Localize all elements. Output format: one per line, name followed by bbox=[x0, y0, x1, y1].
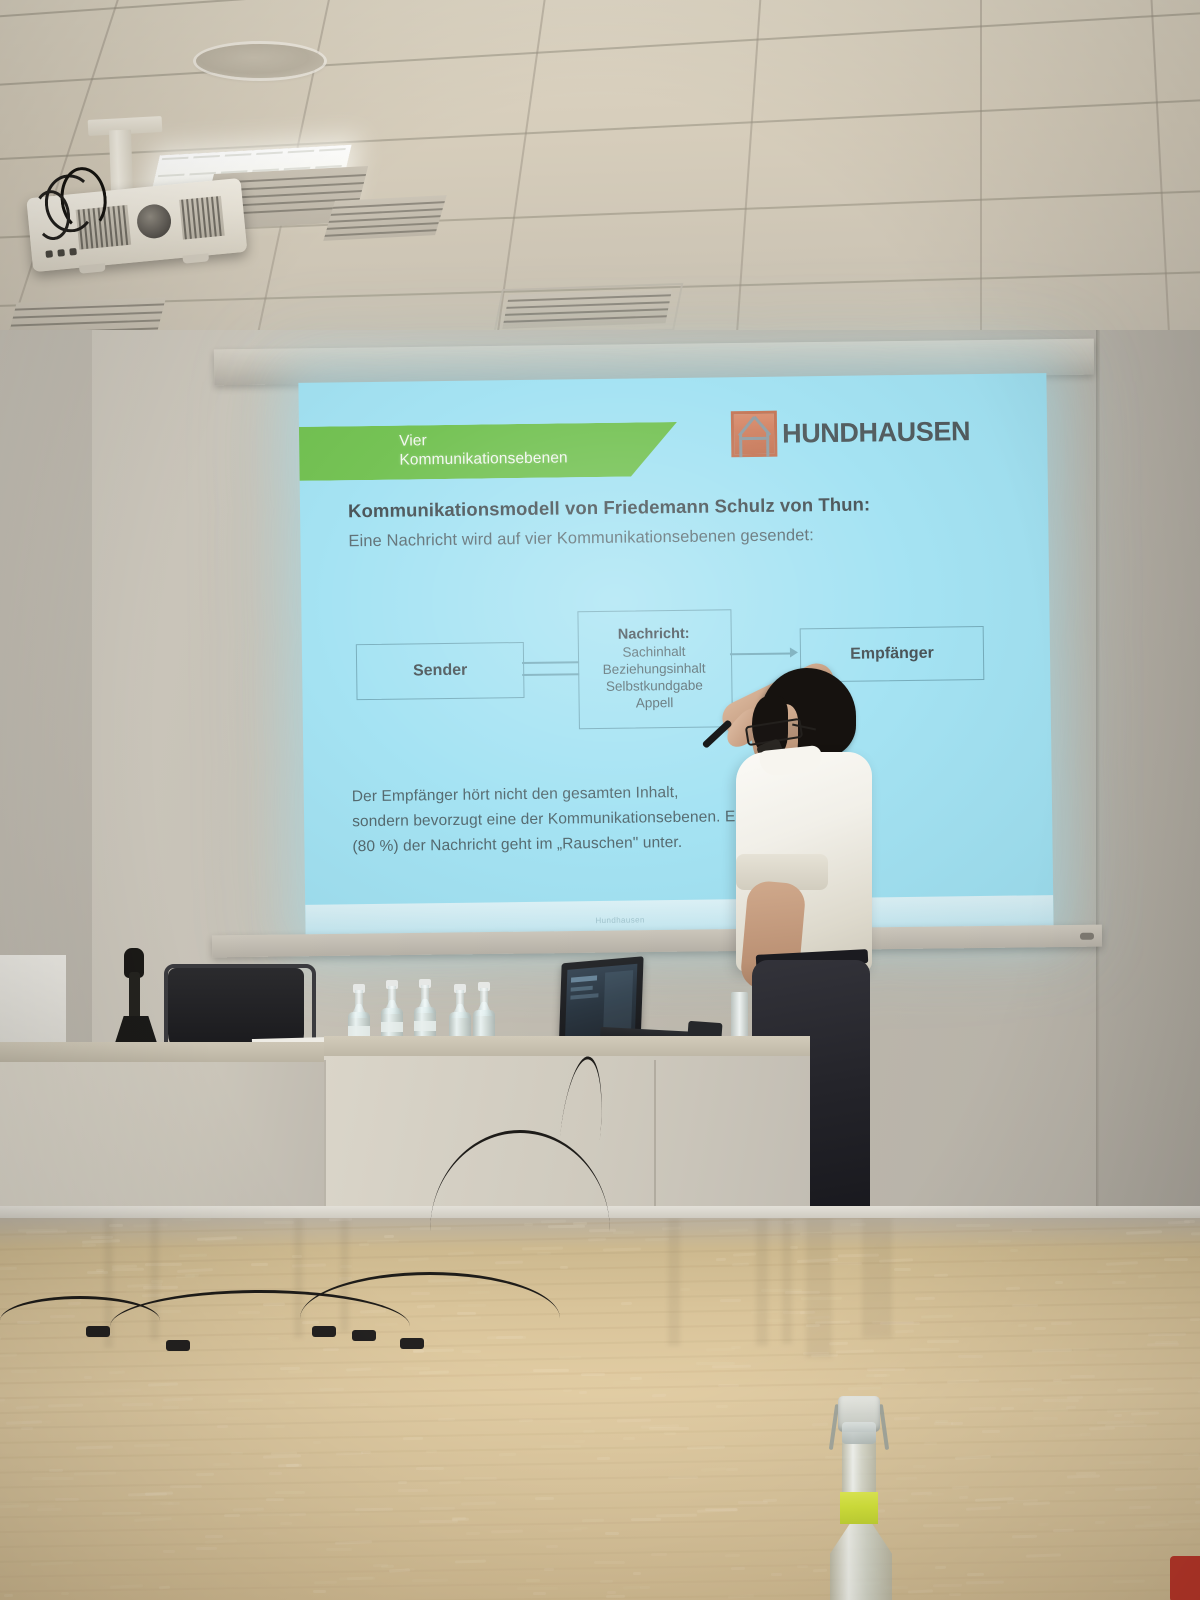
floor-grain bbox=[1033, 1409, 1068, 1413]
diagram-connector-sender-top bbox=[522, 661, 579, 663]
floor-grain bbox=[719, 1228, 748, 1232]
floor-reflection bbox=[668, 1218, 680, 1346]
floor-grain bbox=[607, 1591, 616, 1594]
floor-grain bbox=[398, 1481, 407, 1484]
floor-grain bbox=[1191, 1231, 1200, 1235]
floor-grain bbox=[978, 1239, 1011, 1243]
floor-grain bbox=[921, 1314, 954, 1318]
laptop-ui-element bbox=[571, 975, 597, 982]
floor-grain bbox=[484, 1364, 498, 1367]
floor-grain bbox=[621, 1302, 633, 1305]
floor-grain bbox=[716, 1405, 728, 1408]
floor-grain bbox=[21, 1427, 33, 1430]
floor-grain bbox=[11, 1370, 37, 1373]
floor-grain bbox=[1192, 1376, 1200, 1380]
floor-grain bbox=[224, 1513, 240, 1516]
floor-grain bbox=[701, 1467, 726, 1471]
message-level-2: Selbstkundgabe bbox=[606, 677, 703, 694]
light-cell bbox=[193, 155, 220, 158]
logo-crossbar bbox=[739, 437, 769, 440]
floor-grain bbox=[319, 1387, 344, 1391]
floor-grain bbox=[82, 1243, 96, 1247]
floor-grain bbox=[1115, 1486, 1157, 1491]
ceiling bbox=[0, 0, 1200, 352]
floor-grain bbox=[1010, 1249, 1018, 1252]
cable-plug bbox=[400, 1338, 424, 1349]
floor-grain bbox=[1140, 1251, 1160, 1255]
floor-grain bbox=[194, 1411, 210, 1415]
floor-grain bbox=[109, 1371, 125, 1375]
floor-grain bbox=[1168, 1519, 1200, 1523]
floor-grain bbox=[336, 1452, 363, 1456]
floor-grain bbox=[895, 1329, 914, 1333]
projector-mount-pole bbox=[109, 130, 133, 193]
cable-plug bbox=[312, 1326, 336, 1337]
floor-grain bbox=[1037, 1523, 1048, 1526]
floor-grain bbox=[546, 1545, 558, 1548]
slide-heading: Kommunikationsmodell von Friedemann Schu… bbox=[348, 492, 1008, 523]
floor-grain bbox=[934, 1274, 948, 1278]
floor-grain bbox=[958, 1355, 983, 1358]
floor-grain bbox=[664, 1432, 676, 1435]
floor-grain bbox=[1012, 1304, 1039, 1307]
floor-grain bbox=[1113, 1580, 1145, 1584]
floor-grain bbox=[48, 1403, 83, 1407]
slide-footer-note: Hundhausen bbox=[595, 915, 644, 925]
bottle-label bbox=[414, 1021, 436, 1031]
floor-grain bbox=[966, 1506, 1001, 1511]
floor-grain bbox=[1073, 1348, 1090, 1352]
floor-grain bbox=[1126, 1230, 1162, 1235]
floor-grain bbox=[461, 1501, 496, 1505]
floor-grain bbox=[959, 1496, 968, 1499]
floor-grain bbox=[367, 1240, 399, 1244]
floor-grain bbox=[1196, 1485, 1200, 1489]
floor-grain bbox=[426, 1450, 437, 1453]
sender-label: Sender bbox=[413, 662, 467, 681]
floor-grain bbox=[0, 1500, 22, 1503]
floor-grain bbox=[1033, 1417, 1058, 1420]
floor-grain bbox=[594, 1561, 625, 1564]
floor-grain bbox=[1006, 1286, 1020, 1290]
floor-grain bbox=[933, 1584, 962, 1587]
floor-grain bbox=[257, 1513, 289, 1516]
floor-grain bbox=[160, 1502, 174, 1505]
floor-grain bbox=[705, 1508, 737, 1511]
floor-grain bbox=[1026, 1553, 1062, 1557]
floor-grain bbox=[370, 1367, 382, 1370]
floor-reflection bbox=[806, 1218, 832, 1358]
floor-grain bbox=[1164, 1258, 1188, 1261]
floor-grain bbox=[205, 1535, 223, 1538]
floor-grain bbox=[1066, 1406, 1076, 1409]
floor-grain bbox=[649, 1427, 689, 1430]
vent-slat bbox=[216, 196, 222, 236]
light-cell bbox=[288, 150, 315, 153]
floor-reflection bbox=[862, 1218, 892, 1338]
floor-grain bbox=[915, 1297, 935, 1300]
floor-grain bbox=[633, 1572, 641, 1575]
slide-body-text: Der Empfänger hört nicht den gesamten In… bbox=[352, 775, 1043, 859]
floor-grain bbox=[55, 1498, 79, 1501]
floor-grain bbox=[613, 1231, 634, 1234]
floor-grain bbox=[771, 1573, 782, 1576]
floor-grain bbox=[1142, 1456, 1152, 1459]
floor-grain bbox=[107, 1389, 141, 1393]
floor-grain bbox=[398, 1488, 428, 1491]
floor-grain bbox=[412, 1579, 448, 1583]
floor-grain bbox=[1106, 1262, 1138, 1267]
floor-grain bbox=[230, 1452, 242, 1455]
floor-grain bbox=[1012, 1535, 1037, 1539]
floor-grain bbox=[1051, 1321, 1072, 1324]
floor-grain bbox=[84, 1376, 92, 1379]
floor-grain bbox=[560, 1420, 591, 1423]
right-wall bbox=[1100, 330, 1200, 1230]
floor-grain bbox=[867, 1368, 905, 1372]
floor-grain bbox=[61, 1591, 69, 1594]
bottle-label bbox=[381, 1022, 403, 1032]
floor-grain bbox=[535, 1497, 555, 1500]
logo-wordmark: HUNDHAUSEN bbox=[782, 416, 970, 449]
floor-grain bbox=[731, 1346, 741, 1349]
light-cell bbox=[256, 152, 283, 155]
floor-grain bbox=[1109, 1461, 1151, 1465]
floor-grain bbox=[961, 1327, 974, 1330]
floor-grain bbox=[728, 1594, 754, 1598]
floor-grain bbox=[22, 1421, 51, 1425]
floor-grain bbox=[952, 1485, 970, 1489]
floor-grain bbox=[403, 1437, 423, 1440]
floor-grain bbox=[1112, 1281, 1126, 1284]
floor-grain bbox=[330, 1513, 360, 1517]
floor-grain bbox=[466, 1532, 480, 1535]
ceiling-tile-line bbox=[735, 0, 762, 349]
floor-grain bbox=[289, 1513, 306, 1516]
floor-grain bbox=[296, 1452, 309, 1456]
floor-grain bbox=[1148, 1332, 1186, 1336]
foreground-glass-bottle bbox=[812, 1382, 908, 1600]
floor-grain bbox=[526, 1579, 540, 1582]
screen-pull-knob bbox=[1080, 933, 1094, 940]
floor-grain bbox=[982, 1430, 1000, 1433]
floor-grain bbox=[263, 1532, 277, 1536]
floor-grain bbox=[162, 1405, 179, 1408]
floor-grain bbox=[196, 1472, 214, 1476]
floor-grain bbox=[984, 1260, 1002, 1263]
floor-grain bbox=[90, 1391, 104, 1395]
floor-grain bbox=[600, 1579, 613, 1582]
floor-grain bbox=[652, 1394, 666, 1398]
floor-grain bbox=[0, 1504, 29, 1509]
floor-grain bbox=[82, 1239, 120, 1244]
floor-grain bbox=[541, 1445, 581, 1448]
light-cell bbox=[319, 148, 346, 151]
floor-grain bbox=[829, 1262, 862, 1265]
cable-plug bbox=[166, 1340, 190, 1351]
floor-grain bbox=[948, 1593, 960, 1596]
floor-grain bbox=[716, 1258, 726, 1261]
slide-banner-text: Vier Kommunikationsebenen bbox=[399, 428, 699, 470]
floor-grain bbox=[738, 1501, 768, 1504]
floor-grain bbox=[350, 1403, 368, 1406]
floor-reflection bbox=[756, 1218, 768, 1346]
floor-cable bbox=[0, 1296, 160, 1345]
floor-grain bbox=[128, 1492, 167, 1496]
cable-plug bbox=[86, 1326, 110, 1337]
floor-grain bbox=[1129, 1506, 1151, 1510]
floor-grain bbox=[159, 1585, 170, 1589]
floor-grain bbox=[170, 1485, 202, 1488]
floor-grain bbox=[719, 1299, 740, 1302]
floor-grain bbox=[3, 1594, 12, 1597]
ceiling-tile-line bbox=[0, 96, 1200, 162]
projector-foot bbox=[182, 253, 209, 263]
floor-grain bbox=[725, 1554, 740, 1557]
projector-vent bbox=[179, 196, 225, 240]
floor-grain bbox=[176, 1274, 195, 1278]
floor-grain bbox=[1142, 1306, 1177, 1310]
ceiling-speaker-icon bbox=[196, 44, 324, 78]
floor-grain bbox=[74, 1471, 116, 1475]
floor-grain bbox=[134, 1517, 173, 1522]
floor-grain bbox=[345, 1367, 370, 1371]
floor-grain bbox=[233, 1508, 264, 1512]
floor-grain bbox=[645, 1238, 669, 1242]
ceiling-tile-line bbox=[0, 8, 1200, 88]
floor-grain bbox=[687, 1445, 725, 1449]
floor-grain bbox=[263, 1455, 301, 1459]
floor-grain bbox=[403, 1367, 430, 1370]
floor-grain bbox=[1114, 1414, 1122, 1417]
floor-grain bbox=[266, 1425, 285, 1428]
floor-grain bbox=[1135, 1524, 1170, 1529]
projector-port bbox=[57, 249, 65, 257]
air-vent-grille bbox=[502, 289, 672, 329]
floor-grain bbox=[718, 1384, 739, 1387]
message-title: Nachricht: bbox=[618, 625, 690, 642]
whiteboard-edge bbox=[0, 955, 66, 1055]
floor-grain bbox=[605, 1532, 619, 1535]
floor-grain bbox=[182, 1218, 211, 1222]
floor-grain bbox=[574, 1440, 585, 1444]
projector-port bbox=[69, 248, 77, 256]
floor-grain bbox=[1183, 1453, 1199, 1456]
floor-grain bbox=[226, 1417, 245, 1420]
floor-grain bbox=[668, 1476, 698, 1480]
floor-grain bbox=[96, 1269, 104, 1272]
floor-grain bbox=[613, 1380, 643, 1384]
floor-grain bbox=[0, 1267, 17, 1270]
floor-grain bbox=[519, 1419, 533, 1423]
floor-grain bbox=[606, 1595, 625, 1598]
floor-grain bbox=[196, 1547, 217, 1550]
floor-grain bbox=[314, 1581, 337, 1585]
floor-grain bbox=[177, 1268, 213, 1273]
floor-grain bbox=[955, 1455, 991, 1460]
floor-grain bbox=[266, 1497, 284, 1500]
floor-grain bbox=[548, 1529, 583, 1533]
floor-grain bbox=[1190, 1318, 1200, 1321]
projector-port bbox=[45, 250, 53, 258]
floor-grain bbox=[563, 1389, 572, 1392]
slide-subheading: Eine Nachricht wird auf vier Kommunikati… bbox=[348, 524, 1008, 552]
floor-grain bbox=[339, 1577, 373, 1581]
floor-grain bbox=[581, 1373, 605, 1376]
floor-grain bbox=[1032, 1349, 1072, 1353]
cable-plug bbox=[352, 1330, 376, 1341]
floor-grain bbox=[731, 1567, 745, 1570]
floor-grain bbox=[680, 1288, 690, 1291]
presenter-desk-top bbox=[324, 1036, 810, 1058]
floor-grain bbox=[0, 1353, 17, 1357]
floor-grain bbox=[966, 1580, 1004, 1584]
message-level-1: Beziehungsinhalt bbox=[603, 660, 706, 677]
floor-grain bbox=[280, 1367, 300, 1370]
light-cell bbox=[158, 174, 185, 177]
floor-grain bbox=[264, 1221, 294, 1224]
floor-grain bbox=[1096, 1354, 1117, 1357]
vent-frame bbox=[493, 283, 684, 337]
floor-grain bbox=[464, 1477, 497, 1480]
floor-grain bbox=[217, 1425, 228, 1428]
floor-grain bbox=[1097, 1420, 1134, 1424]
floor-grain bbox=[76, 1445, 113, 1449]
floor-grain bbox=[398, 1257, 429, 1262]
photo-scene: Vier Kommunikationsebenen HUNDHAUSEN Kom… bbox=[0, 0, 1200, 1600]
floor-grain bbox=[126, 1289, 145, 1293]
floor-grain bbox=[1067, 1474, 1100, 1478]
house-h-logo-icon bbox=[731, 411, 778, 458]
floor-grain bbox=[894, 1268, 911, 1271]
ceiling-tile-line bbox=[980, 0, 982, 350]
floor-grain bbox=[419, 1520, 458, 1524]
floor-grain bbox=[921, 1397, 947, 1401]
laptop-ui-element bbox=[570, 993, 598, 999]
floor-grain bbox=[544, 1568, 554, 1571]
projector-foot bbox=[79, 263, 106, 273]
company-logo: HUNDHAUSEN bbox=[731, 408, 971, 457]
projected-slide: Vier Kommunikationsebenen HUNDHAUSEN Kom… bbox=[298, 373, 1053, 939]
floor-grain bbox=[0, 1399, 4, 1403]
floor-grain bbox=[313, 1441, 321, 1444]
wall-side-panel bbox=[0, 330, 92, 1050]
floor-cable bbox=[300, 1272, 560, 1365]
floor-grain bbox=[651, 1553, 667, 1556]
floor-grain bbox=[213, 1463, 230, 1466]
floor-grain bbox=[1055, 1281, 1063, 1284]
floor-grain bbox=[935, 1565, 946, 1568]
bottle-label-band bbox=[840, 1492, 878, 1524]
floor-grain bbox=[969, 1406, 996, 1410]
floor-grain bbox=[924, 1442, 937, 1445]
floor-grain bbox=[420, 1507, 455, 1510]
floor-grain bbox=[1011, 1388, 1034, 1392]
floor-grain bbox=[416, 1467, 444, 1470]
floor-grain bbox=[1147, 1342, 1179, 1346]
floor-grain bbox=[1012, 1229, 1032, 1232]
floor-grain bbox=[623, 1585, 641, 1589]
air-vent-grille bbox=[323, 195, 446, 241]
floor-grain bbox=[583, 1430, 595, 1433]
message-level-3: Appell bbox=[636, 695, 674, 711]
vent-slat bbox=[122, 205, 128, 245]
desk-panel-seam bbox=[324, 1060, 326, 1220]
floor-grain bbox=[1088, 1427, 1114, 1431]
floor-grain bbox=[726, 1467, 738, 1470]
floor-grain bbox=[533, 1368, 569, 1371]
floor-grain bbox=[16, 1405, 39, 1409]
floor-grain bbox=[582, 1518, 604, 1522]
floor-grain bbox=[1137, 1275, 1155, 1279]
floor-grain bbox=[32, 1476, 74, 1479]
floor-grain bbox=[335, 1540, 372, 1544]
floor-grain bbox=[947, 1379, 979, 1384]
floor-grain bbox=[251, 1263, 268, 1266]
floor-grain bbox=[491, 1530, 523, 1534]
ceiling-tile-line bbox=[0, 0, 1200, 20]
floor-grain bbox=[285, 1400, 295, 1403]
laptop-ui-element bbox=[571, 986, 593, 992]
floor-grain bbox=[1043, 1399, 1079, 1402]
shirt-embroidered-logo bbox=[778, 772, 838, 794]
floor-grain bbox=[656, 1514, 697, 1518]
floor-grain bbox=[1034, 1327, 1046, 1330]
floor-grain bbox=[1168, 1220, 1190, 1224]
floor-grain bbox=[166, 1446, 194, 1450]
bottle-label bbox=[348, 1026, 370, 1036]
floor-grain bbox=[326, 1548, 352, 1551]
diagram-sender-box: Sender bbox=[356, 642, 525, 700]
floor-grain bbox=[1117, 1387, 1154, 1392]
message-level-0: Sachinhalt bbox=[622, 643, 685, 660]
floor-grain bbox=[439, 1481, 462, 1485]
floor-grain bbox=[1055, 1434, 1082, 1438]
light-cell bbox=[162, 157, 189, 160]
foreground-red-object bbox=[1170, 1556, 1200, 1600]
swing-top-stopper bbox=[842, 1422, 876, 1444]
floor-grain bbox=[910, 1491, 931, 1495]
floor-grain bbox=[455, 1560, 487, 1564]
floor-grain bbox=[733, 1253, 756, 1257]
swing-top-wire bbox=[879, 1404, 889, 1450]
floor-grain bbox=[418, 1370, 448, 1374]
floor-grain bbox=[927, 1340, 959, 1343]
floor-grain bbox=[623, 1437, 636, 1440]
floor-grain bbox=[913, 1465, 926, 1468]
logo-inner bbox=[735, 415, 774, 457]
floor-grain bbox=[797, 1565, 808, 1568]
light-cell bbox=[189, 172, 216, 175]
floor-grain bbox=[269, 1472, 282, 1475]
floor-grain bbox=[384, 1235, 394, 1238]
floor-grain bbox=[1065, 1491, 1075, 1494]
floor-grain bbox=[228, 1399, 263, 1403]
floor-grain bbox=[163, 1550, 175, 1553]
floor-grain bbox=[1095, 1520, 1105, 1523]
floor-grain bbox=[381, 1565, 394, 1569]
floor-grain bbox=[148, 1383, 178, 1387]
floor-grain bbox=[499, 1453, 516, 1457]
floor-grain bbox=[597, 1457, 610, 1460]
bottle-body bbox=[830, 1520, 892, 1600]
floor-grain bbox=[179, 1253, 207, 1257]
floor-grain bbox=[956, 1224, 990, 1227]
desk-left-body bbox=[0, 1062, 324, 1222]
floor-grain bbox=[517, 1587, 558, 1590]
floor-grain bbox=[579, 1391, 587, 1394]
desk-panel-seam bbox=[654, 1060, 656, 1220]
